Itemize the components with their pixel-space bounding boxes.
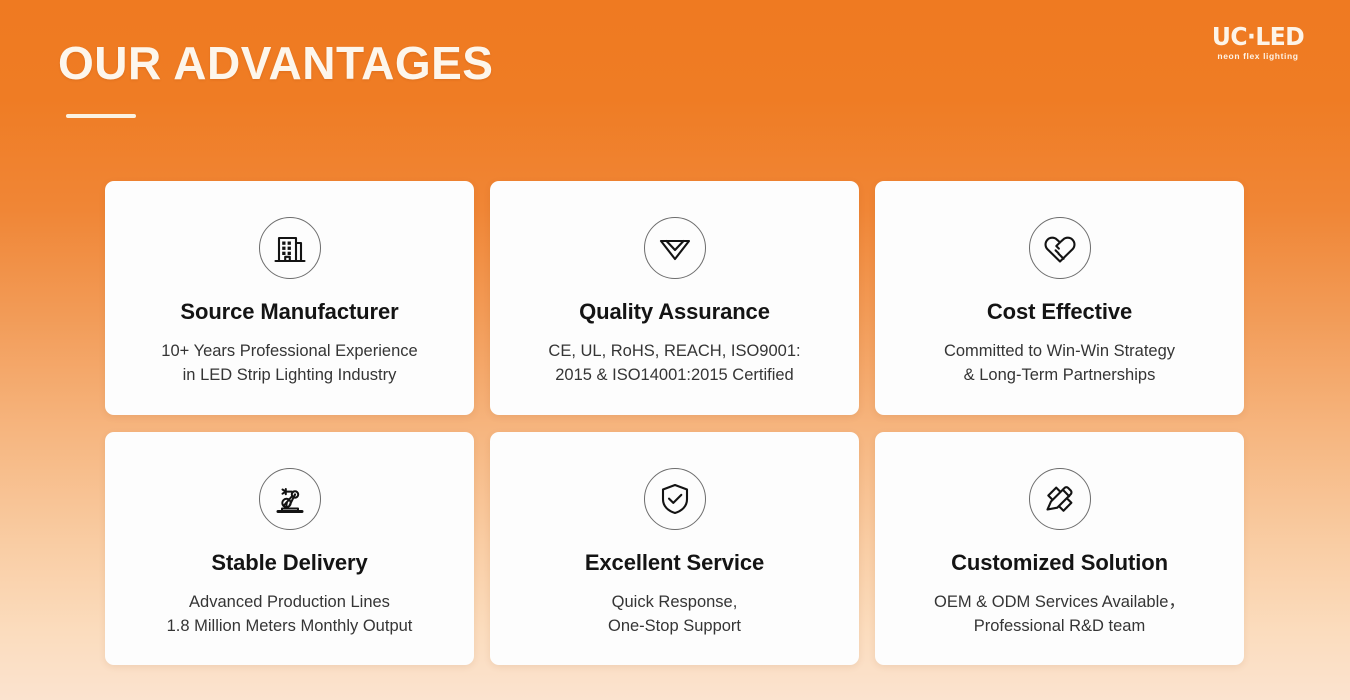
card-description: Committed to Win-Win Strategy & Long-Ter…: [930, 340, 1189, 388]
card-description: Quick Response, One-Stop Support: [594, 591, 755, 639]
advantage-card-cost-effective: Cost Effective Committed to Win-Win Stra…: [875, 181, 1244, 415]
title-accent-bar: [66, 114, 136, 118]
card-description: CE, UL, RoHS, REACH, ISO9001: 2015 & ISO…: [534, 340, 814, 388]
advantage-card-quality-assurance: Quality Assurance CE, UL, RoHS, REACH, I…: [490, 181, 859, 415]
card-title: Excellent Service: [585, 550, 764, 575]
brand-logo: UC·LED neon flex lighting: [1199, 24, 1317, 61]
card-title: Quality Assurance: [579, 299, 770, 324]
advantages-grid: Source Manufacturer 10+ Years Profession…: [105, 181, 1244, 665]
card-description: 10+ Years Professional Experience in LED…: [147, 340, 431, 388]
card-title: Stable Delivery: [211, 550, 367, 575]
advantage-card-customized-solution: Customized Solution OEM & ODM Services A…: [875, 432, 1244, 666]
logo-wordmark: UC·LED: [1197, 24, 1320, 49]
pencil-ruler-icon: [1029, 468, 1091, 530]
diamond-icon: [644, 217, 706, 279]
heart-handshake-icon: [1029, 217, 1091, 279]
page-title: OUR ADVANTAGES: [58, 40, 494, 86]
card-title: Cost Effective: [987, 299, 1132, 324]
card-description: Advanced Production Lines 1.8 Million Me…: [153, 591, 427, 639]
advantage-card-stable-delivery: Stable Delivery Advanced Production Line…: [105, 432, 474, 666]
advantage-card-source-manufacturer: Source Manufacturer 10+ Years Profession…: [105, 181, 474, 415]
card-title: Customized Solution: [951, 550, 1168, 575]
logo-tagline: neon flex lighting: [1199, 52, 1317, 61]
slide-our-advantages: { "header": { "title": "OUR ADVANTAGES",…: [0, 0, 1350, 700]
robot-arm-icon: [259, 468, 321, 530]
building-icon: [259, 217, 321, 279]
shield-check-icon: [644, 468, 706, 530]
slide-header: OUR ADVANTAGES UC·LED neon flex lighting: [0, 0, 1350, 150]
advantage-card-excellent-service: Excellent Service Quick Response, One-St…: [490, 432, 859, 666]
card-title: Source Manufacturer: [180, 299, 398, 324]
card-description: OEM & ODM Services Available， Profession…: [920, 591, 1199, 639]
